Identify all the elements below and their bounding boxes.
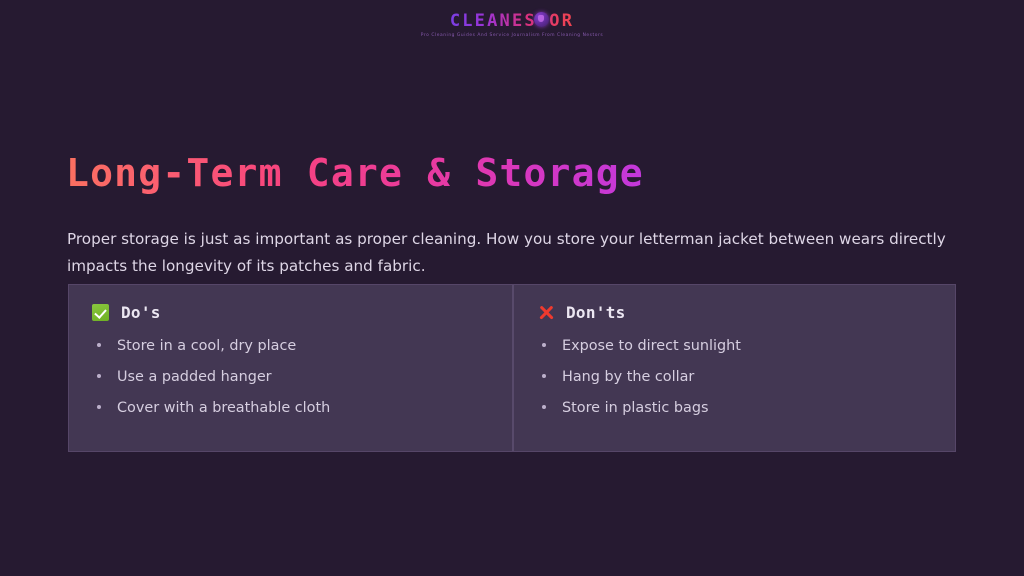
dos-donts-panel: Do's Store in a cool, dry place Use a pa… [68, 284, 956, 452]
list-item: Hang by the collar [536, 368, 931, 386]
dos-column-header: Do's [91, 303, 488, 322]
list-item-label: Cover with a breathable cloth [117, 400, 330, 416]
dos-column-title: Do's [121, 303, 161, 322]
donts-column-header: Don'ts [536, 303, 931, 322]
bullet-icon [97, 374, 101, 378]
donts-list: Expose to direct sunlight Hang by the co… [536, 337, 931, 417]
dos-column: Do's Store in a cool, dry place Use a pa… [69, 285, 512, 451]
bullet-icon [542, 374, 546, 378]
list-item: Use a padded hanger [91, 368, 488, 386]
donts-column-title: Don'ts [566, 303, 626, 322]
white-heavy-check-mark-icon [91, 303, 110, 322]
list-item: Store in plastic bags [536, 399, 931, 417]
list-item: Expose to direct sunlight [536, 337, 931, 355]
site-header: CLEANESTOR Pro Cleaning Guides And Servi… [0, 0, 1024, 62]
bullet-icon [542, 405, 546, 409]
list-item-label: Hang by the collar [562, 369, 694, 385]
bullet-icon [542, 343, 546, 347]
logo-wordmark-text: CLEANESTOR [450, 11, 574, 31]
site-logo[interactable]: CLEANESTOR [450, 13, 574, 30]
list-item-label: Store in a cool, dry place [117, 338, 296, 354]
list-item: Cover with a breathable cloth [91, 399, 488, 417]
site-tagline: Pro Cleaning Guides And Service Journali… [421, 33, 603, 38]
list-item-label: Use a padded hanger [117, 369, 272, 385]
donts-column: Don'ts Expose to direct sunlight Hang by… [512, 285, 955, 451]
circle-orb-icon [534, 12, 549, 27]
list-item-label: Store in plastic bags [562, 400, 708, 416]
dos-list: Store in a cool, dry place Use a padded … [91, 337, 488, 417]
page-title: Long-Term Care & Storage [66, 152, 644, 196]
bullet-icon [97, 405, 101, 409]
bullet-icon [97, 343, 101, 347]
list-item-label: Expose to direct sunlight [562, 338, 741, 354]
intro-paragraph: Proper storage is just as important as p… [67, 226, 957, 280]
cross-mark-icon [536, 303, 555, 322]
list-item: Store in a cool, dry place [91, 337, 488, 355]
